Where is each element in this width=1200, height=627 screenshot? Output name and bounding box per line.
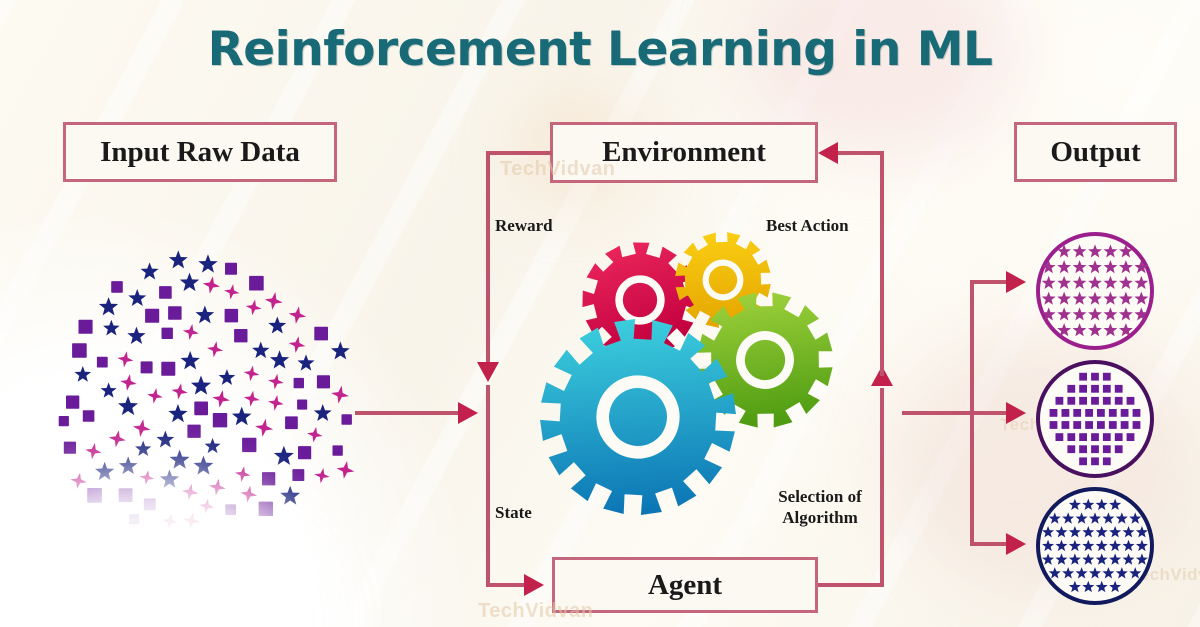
connector-environment-left-stub (486, 151, 552, 155)
label-state: State (495, 503, 532, 524)
output-glyphs-1 (1043, 239, 1147, 343)
arrowhead-output-1 (1006, 271, 1026, 293)
connector-to-output-spine (902, 411, 974, 415)
arrowhead-state-to-agent (524, 574, 544, 596)
arrowhead-best-action (818, 142, 838, 164)
output-circle-stars-pink (1036, 232, 1154, 350)
connector-input-to-loop (355, 411, 460, 415)
gear-cluster (540, 232, 840, 517)
input-raw-data-box[interactable]: Input Raw Data (63, 122, 337, 182)
arrowhead-input-to-loop (458, 402, 478, 424)
connector-best-action-up (880, 151, 884, 376)
gears-svg (540, 232, 840, 517)
connector-state-down (486, 385, 490, 585)
connector-best-action-into-environment (838, 151, 884, 155)
diagram-canvas: Reinforcement Learning in ML TechVidvan … (0, 0, 1200, 627)
agent-box[interactable]: Agent (552, 557, 818, 613)
arrowhead-output-3 (1006, 533, 1026, 555)
environment-box[interactable]: Environment (550, 122, 818, 183)
connector-output-branch-3 (970, 542, 1010, 546)
connector-state-to-agent (486, 583, 528, 587)
scatter-svg (60, 250, 350, 545)
output-circle-stars-navy (1036, 487, 1154, 605)
output-glyphs-3 (1043, 494, 1147, 598)
output-glyphs-2 (1043, 367, 1147, 471)
connector-reward-down (486, 151, 490, 373)
connector-output-branch-1 (970, 280, 1010, 284)
connector-output-branch-2 (970, 411, 1010, 415)
raw-data-scatter (60, 250, 350, 545)
output-circle-squares-purple (1036, 360, 1154, 478)
connector-agent-right-stub (818, 583, 884, 587)
arrowhead-output-2 (1006, 402, 1026, 424)
arrowhead-reward (477, 362, 499, 382)
output-box[interactable]: Output (1014, 122, 1177, 182)
connector-selection-up (880, 388, 884, 585)
page-title: Reinforcement Learning in ML (0, 22, 1200, 77)
